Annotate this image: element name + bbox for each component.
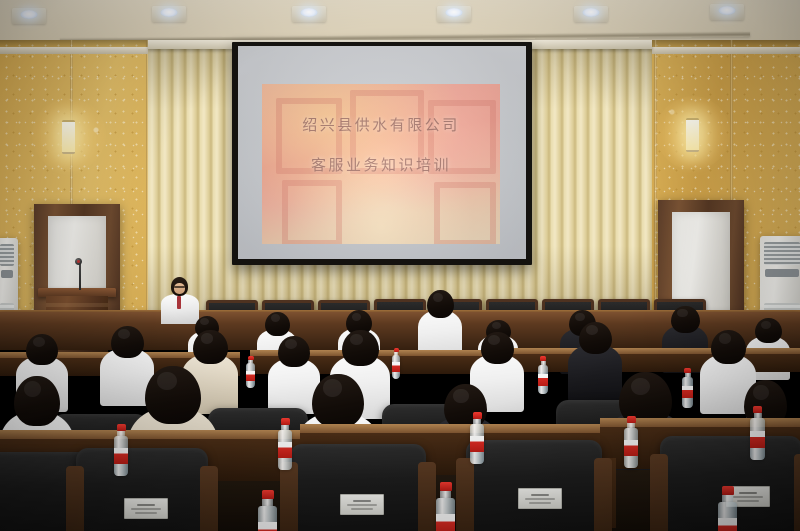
ceiling-spot-3-bulb <box>301 8 318 17</box>
seat-plate-text-line-1 <box>531 494 549 496</box>
ac-unit-right-control-panel <box>765 269 799 277</box>
hair-highlight <box>433 293 443 302</box>
water-bottle-2-cap <box>281 418 290 425</box>
foreground-chair-4 <box>466 440 602 531</box>
screen-glow-overlay <box>238 46 526 259</box>
seat-plate-text-line-3 <box>351 508 373 510</box>
foreground-chair-3-arm-left <box>280 462 298 531</box>
wall-sconce-left <box>62 120 75 154</box>
foreground-chair-3 <box>290 444 426 531</box>
hair-highlight <box>200 318 209 325</box>
ceiling-spot-1-bulb <box>21 10 38 19</box>
hair-highlight <box>761 321 771 329</box>
water-bottle-8-cap <box>262 490 274 499</box>
hair-highlight <box>631 378 650 396</box>
ceiling-spot-3 <box>292 6 326 22</box>
water-bottle-10-label <box>718 518 737 531</box>
seat-number-plate-2 <box>340 494 384 515</box>
ceiling-spot-6-bulb <box>719 6 736 15</box>
hair-highlight <box>118 329 130 339</box>
front-desk-2-top <box>300 424 600 433</box>
hair-highlight <box>586 325 598 335</box>
meeting-room-photo: 绍兴县供水有限公司 客服业务知识培训 <box>0 0 800 531</box>
water-bottle-7-cap <box>753 406 762 413</box>
ceiling-spot-6 <box>710 4 744 20</box>
ceiling-spot-2 <box>152 6 186 22</box>
audience-row-2-person-1-head <box>26 334 58 365</box>
hair-highlight <box>157 372 177 391</box>
lintel-left <box>0 47 150 54</box>
audience-row-2-person-4-head <box>278 336 310 367</box>
seat-plate-text-line-1 <box>137 504 155 506</box>
water-bottle-9-label <box>436 514 455 531</box>
audience-row-1-person-4-head <box>427 290 454 318</box>
seat-plate-text-line-2 <box>525 498 555 500</box>
hair-highlight <box>753 385 768 400</box>
water-bottle-3-cap <box>473 412 482 419</box>
water-bottle-1-label <box>114 448 128 464</box>
seat-plate-text-line-2 <box>131 508 161 510</box>
audience-row-2-person-7-head <box>579 322 612 354</box>
audience-row-2-person-3-head <box>193 330 228 364</box>
audience-row-2-person-8-head <box>711 330 746 364</box>
water-bottle-11-label <box>392 362 400 372</box>
foreground-chair-5-arm-left <box>650 454 668 531</box>
wall-sconce-right <box>686 118 699 152</box>
seat-plate-text-line-3 <box>529 502 551 504</box>
hair-highlight <box>33 337 45 347</box>
hair-highlight <box>350 334 363 346</box>
water-bottle-3-label <box>470 436 484 452</box>
ac-unit-left-grille <box>0 244 14 266</box>
presenter-face <box>174 283 185 294</box>
ceiling-spot-4 <box>437 6 471 22</box>
hair-highlight <box>453 389 468 404</box>
presenter-glasses <box>174 286 185 288</box>
foreground-chair-4-arm-left <box>456 458 474 531</box>
water-bottle-10-cap <box>722 486 734 495</box>
seat-plate-text-line-3 <box>135 512 157 514</box>
lintel-right <box>650 47 800 54</box>
audience-row-3-person-3-head <box>312 374 364 428</box>
water-bottle-2-label <box>278 442 292 458</box>
foreground-chair-2-arm-left <box>66 466 84 531</box>
seat-plate-text-line-2 <box>733 496 763 498</box>
seat-number-plate-3 <box>518 488 562 509</box>
ac-unit-left-control-panel <box>1 270 13 278</box>
audience-row-3-person-1-head <box>14 376 60 426</box>
seat-number-plate-1 <box>124 498 168 519</box>
water-bottle-9-neck <box>440 491 451 498</box>
podium-trim <box>46 303 108 307</box>
ceiling-spot-2-bulb <box>161 8 178 17</box>
audience-row-2-person-5-head <box>342 330 379 366</box>
water-bottle-8-neck <box>262 499 273 506</box>
audience-row-1-person-8-head <box>755 318 782 343</box>
hair-highlight <box>492 322 501 329</box>
ceiling-spot-1 <box>12 8 46 24</box>
water-bottle-9-cap <box>440 482 452 491</box>
water-bottle-4-label <box>538 374 548 386</box>
hair-highlight <box>24 381 41 397</box>
foreground-chair-5-arm-right <box>794 454 800 531</box>
wall-seam-3 <box>654 40 657 340</box>
ceiling-spot-5-bulb <box>583 8 600 17</box>
hair-highlight <box>285 339 297 349</box>
water-bottle-5-label <box>624 440 638 456</box>
water-bottle-5-cap <box>627 416 636 423</box>
hair-highlight <box>271 314 280 322</box>
presenter-tie <box>177 296 181 309</box>
gooseneck-microphone-stem <box>79 262 81 290</box>
hair-highlight <box>575 313 585 321</box>
audience-row-3-person-2-head <box>145 366 201 424</box>
water-bottle-7-label <box>750 431 765 448</box>
seat-plate-text-line-3 <box>737 500 759 502</box>
audience-row-2-person-6-head <box>481 332 514 364</box>
foreground-chair-3-arm-right <box>418 462 436 531</box>
seat-plate-text-line-2 <box>347 504 377 506</box>
hair-highlight <box>352 313 361 321</box>
water-bottle-12-label <box>246 371 255 381</box>
ac-unit-right-grille <box>764 242 800 265</box>
ceiling-spot-5 <box>574 6 608 22</box>
hair-highlight <box>201 333 214 344</box>
hair-highlight <box>323 379 342 396</box>
audience-row-1-person-2-head <box>265 312 290 336</box>
microphone-indicator-light <box>77 260 80 263</box>
water-bottle-8-label <box>258 522 277 531</box>
water-bottle-1-cap <box>117 424 126 431</box>
mid-desk-3 <box>510 354 800 372</box>
hair-highlight <box>677 309 687 318</box>
hair-highlight <box>488 335 500 345</box>
seat-plate-text-line-1 <box>739 492 757 494</box>
seat-plate-text-line-1 <box>353 500 371 502</box>
hair-highlight <box>719 333 732 344</box>
water-bottle-10-neck <box>722 495 733 502</box>
ceiling-spot-4-bulb <box>446 8 463 17</box>
audience-row-1-person-7-head <box>671 306 700 333</box>
water-bottle-6-label <box>682 386 693 398</box>
foreground-chair-4-arm-right <box>594 458 612 531</box>
front-desk-1-top <box>0 430 300 439</box>
audience-row-2-person-2-head <box>111 326 144 358</box>
foreground-chair-2-arm-right <box>200 466 218 531</box>
